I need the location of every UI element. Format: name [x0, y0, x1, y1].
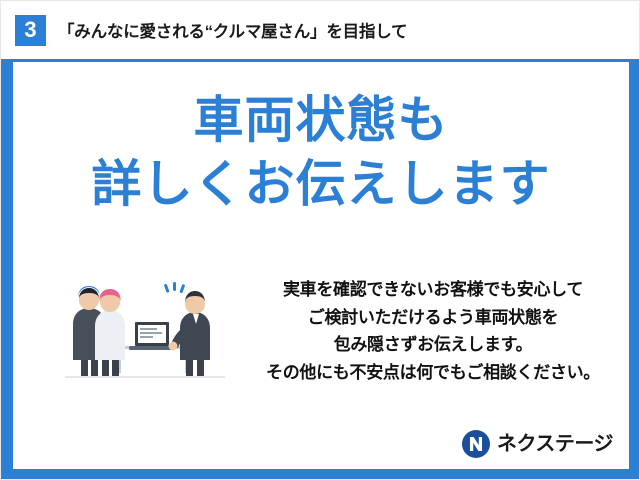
content-inner: 車両状態も 詳しくお伝えします [13, 62, 629, 469]
body-copy: 実車を確認できないお客様でも安心して ご検討いただけるよう車両状態を 包み隠さず… [255, 276, 611, 386]
content-frame: 車両状態も 詳しくお伝えします [1, 62, 640, 480]
header-title: 「みんなに愛される“クルマ屋さん」を目指して [58, 18, 407, 42]
headline-line-1: 車両状態も [13, 92, 629, 148]
body-copy-line-3: 包み隠さずお伝えします。 [255, 331, 611, 359]
brand-logo: ネクステージ [461, 429, 613, 459]
n-logo-icon [461, 429, 491, 459]
promo-banner: 3 「みんなに愛される“クルマ屋さん」を目指して 車両状態も 詳しくお伝えします [0, 0, 640, 480]
body-copy-line-1: 実車を確認できないお客様でも安心して [255, 276, 611, 304]
body-copy-line-4: その他にも不安点は何でもご相談ください。 [255, 359, 611, 387]
banner-header: 3 「みんなに愛される“クルマ屋さん」を目指して [1, 1, 640, 62]
staff-explaining-to-customers-illustration [55, 270, 235, 380]
step-number-badge: 3 [15, 15, 46, 46]
body-copy-line-2: ご検討いただけるよう車両状態を [255, 304, 611, 332]
headline: 車両状態も 詳しくお伝えします [13, 92, 629, 212]
headline-line-2: 詳しくお伝えします [13, 156, 629, 212]
brand-name: ネクステージ [497, 434, 613, 454]
